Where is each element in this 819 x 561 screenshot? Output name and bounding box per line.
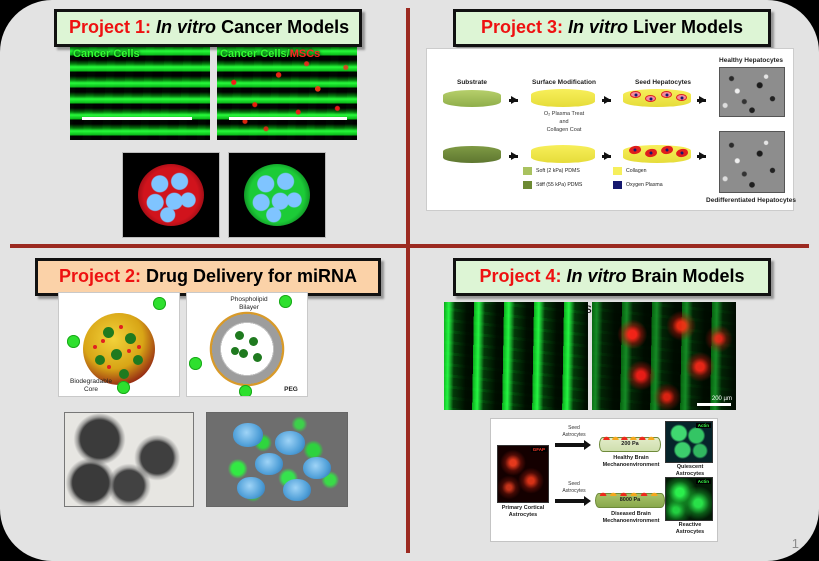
scale-bar (229, 117, 347, 120)
project-2-image-row (64, 412, 348, 507)
legend-label-soft-pdms: Soft (2 kPa) PDMS (536, 168, 580, 174)
project-4-title-text: Brain Models (632, 266, 745, 286)
actin-tag: Actin (696, 479, 711, 484)
gel-8000pa: 8000 Pa (595, 493, 665, 508)
cargo-dot (111, 349, 122, 360)
arrow-seed-bottom (555, 499, 585, 503)
stiffness-label-bottom: 8000 Pa (596, 497, 664, 503)
seed-label-top: Seed Astrocytes (553, 425, 595, 438)
legend-swatch-oxygen-plasma (613, 181, 622, 189)
scale-bar (82, 117, 192, 120)
arrow-seed-top (555, 443, 585, 447)
red-membrane-spheroid-image (122, 152, 220, 238)
liposome-schematic: Phospholipid Bilayer PEG (186, 292, 308, 397)
page-number: 1 (792, 536, 799, 551)
seed-label-line-2: Astrocytes (562, 488, 585, 494)
env-label-top: Healthy Brain Mechanoenvironment (591, 455, 671, 469)
arrow-right (604, 152, 611, 160)
outcome-label-dedifferentiated: Dedifferentiated Hepatocytes (705, 197, 797, 205)
mirna-dot (101, 339, 105, 343)
result-label-bottom-line-1: Reactive (679, 522, 702, 528)
stiffness-label-top: 200 Pa (600, 441, 660, 447)
mirna-dot (119, 325, 123, 329)
peg-label: PEG (278, 386, 304, 394)
peg-moiety (239, 385, 252, 397)
project-4-title-italic: In vitro (566, 266, 626, 286)
result-label-bottom: Reactive Astrocytes (663, 522, 717, 536)
peg-moiety (153, 297, 166, 310)
collagen-disk-soft (531, 89, 595, 107)
cell-nucleus (237, 477, 265, 499)
healthy-hepatocytes-image (719, 67, 785, 117)
vertical-divider (406, 8, 410, 553)
project-3-title-text: Liver Models (633, 17, 743, 37)
project-2-title-text: Drug Delivery for miRNA (146, 266, 357, 286)
project-1-spheroid-row (122, 152, 326, 238)
treatment-note-line-3: Collagen Coat (523, 127, 605, 134)
treatment-note-line-1: O₂ Plasma Treat (523, 111, 605, 118)
arrow-right (699, 152, 706, 160)
cargo-dot (253, 353, 262, 362)
seed-label-bottom: Seed Astrocytes (553, 481, 595, 494)
cell-nucleus (275, 431, 305, 455)
astrocyte-bumps (602, 434, 658, 440)
legend-swatch-soft-pdms (523, 167, 532, 175)
cell-nucleus (283, 479, 311, 501)
source-label-line-2: Astrocytes (509, 512, 537, 518)
neurons-green-micrograph (444, 302, 588, 410)
cancer-cells-label: Cancer Cells (73, 48, 140, 60)
project-3-number: Project 3: (481, 17, 563, 37)
hepatocyte-healthy (661, 91, 672, 98)
hepatocyte-healthy (630, 91, 641, 98)
legend-label-collagen: Collagen (626, 168, 646, 174)
dedifferentiated-hepatocytes-image (719, 131, 785, 193)
bilayer-label-line-2: Bilayer (239, 304, 259, 311)
cancer-cells-sublabel: Cancer Cells (220, 48, 287, 60)
legend-swatch-collagen (613, 167, 622, 175)
mirna-dot (127, 349, 131, 353)
result-label-top-line-1: Quiescent (677, 464, 704, 470)
treatment-note-line-2: and (523, 119, 605, 126)
gfap-tag: GFAP (531, 447, 547, 452)
project-2-schematic-row: Biodegradable Core Phospholipid Bilayer … (58, 292, 308, 397)
astrocyte-texture (592, 302, 736, 410)
project-1-micrograph-row: Cancer Cells Cancer Cells/MSCs (70, 47, 357, 140)
peg-moiety (189, 357, 202, 370)
source-label: Primary Cortical Astrocytes (491, 505, 555, 519)
reactive-astrocytes-image: Actin (665, 477, 713, 521)
mirna-dot (137, 345, 141, 349)
env-label-top-line-2: Mechanoenvironment (603, 462, 660, 468)
project-4-title: Project 4: In vitro Brain Models (453, 258, 771, 296)
arrow-right (511, 96, 518, 104)
cancer-cells-mscs-micrograph: Cancer Cells/MSCs (217, 47, 357, 140)
bilayer-label-line-1: Phospholipid (230, 296, 267, 303)
liver-workflow-diagram: Substrate Surface Modification Seed Hepa… (426, 48, 794, 211)
mirna-dot (107, 365, 111, 369)
outcome-label-healthy: Healthy Hepatocytes (713, 57, 789, 65)
phospholipid-bilayer-ring (207, 309, 287, 389)
green-fiber-texture (70, 47, 210, 140)
result-label-bottom-line-2: Astrocytes (676, 529, 704, 535)
project-3-title-italic: In vitro (568, 17, 628, 37)
neurons-astrocytes-micrograph: 200 µm (592, 302, 736, 410)
source-label-line-1: Primary Cortical (502, 505, 545, 511)
legend-label-oxygen-plasma: Oxygen Plasma (626, 182, 663, 188)
step-label-seed-hepatocytes: Seed Hepatocytes (623, 79, 703, 87)
neuron-network-texture (444, 302, 588, 410)
core-label-line-1: Biodegradable (70, 378, 112, 385)
quiescent-astrocytes-image: Actin (665, 421, 713, 463)
seed-label-line-1: Seed (568, 481, 580, 487)
horizontal-divider (10, 244, 809, 248)
cargo-dot (239, 349, 248, 358)
astrocyte-bumps (598, 490, 662, 496)
mscs-sublabel: MSCs (290, 48, 321, 60)
project-4-micrograph-row: 200 µm (444, 302, 736, 410)
env-label-top-line-1: Healthy Brain (613, 455, 648, 461)
mirna-dot (93, 345, 97, 349)
cargo-dot (103, 327, 114, 338)
project-2-title: Project 2: Drug Delivery for miRNA (35, 258, 381, 296)
core-label-line-2: Core (84, 386, 98, 393)
seed-label-line-2: Astrocytes (562, 432, 585, 438)
project-1-title-italic: In vitro (156, 17, 216, 37)
quadrant-project-4: Project 4: In vitro Brain Models Neurons… (412, 250, 812, 550)
hepatocyte-healthy (645, 95, 656, 102)
project-2-number: Project 2: (59, 266, 141, 286)
phospholipid-bilayer-label: Phospholipid Bilayer (217, 296, 281, 312)
env-label-bottom-line-1: Diseased Brain (611, 511, 651, 517)
cell-nucleus (255, 453, 283, 475)
cargo-dot (249, 337, 258, 346)
substrate-disk-soft (443, 90, 501, 107)
collagen-disk-stiff (531, 145, 595, 163)
brightfield-spheroids-image (64, 412, 194, 507)
biodegradable-core-label: Biodegradable Core (60, 378, 122, 394)
arrow-right (604, 96, 611, 104)
peg-moiety (67, 335, 80, 348)
arrow-right (511, 152, 518, 160)
substrate-disk-stiff (443, 146, 501, 163)
green-membrane-spheroid-image (228, 152, 326, 238)
quadrant-project-1: Project 1: In vitro Cancer Models Cancer… (12, 4, 404, 242)
step-label-substrate: Substrate (441, 79, 503, 87)
spheroid-shape (138, 164, 204, 226)
quadrant-project-3: Project 3: In vitro Liver Models Substra… (412, 4, 812, 242)
scale-bar-label: 200 µm (712, 396, 732, 402)
actin-tag: Actin (696, 423, 711, 428)
primary-cortical-astrocytes-image: GFAP (497, 445, 549, 503)
cargo-dot (95, 355, 105, 365)
cancer-cells-micrograph: Cancer Cells (70, 47, 210, 140)
scale-bar (697, 403, 731, 406)
cargo-dot (231, 347, 239, 355)
cell-nucleus (303, 457, 331, 479)
project-1-title-text: Cancer Models (221, 17, 349, 37)
cell-nucleus (233, 423, 263, 447)
hepatocyte-healthy (676, 94, 687, 101)
project-1-title: Project 1: In vitro Cancer Models (54, 9, 362, 47)
cargo-dot (235, 331, 244, 340)
env-label-bottom-line-2: Mechanoenvironment (603, 518, 660, 524)
cargo-dot (125, 333, 136, 344)
env-label-bottom: Diseased Brain Mechanoenvironment (589, 511, 673, 525)
step-label-surface-modification: Surface Modification (519, 79, 609, 87)
legend-label-stiff-pdms: Stiff (55 kPa) PDMS (536, 182, 582, 188)
astrocyte-mechanoenvironment-diagram: GFAP Primary Cortical Astrocytes Seed As… (490, 418, 718, 542)
slide-canvas: Project 1: In vitro Cancer Models Cancer… (0, 0, 819, 561)
spheroid-shape (244, 164, 310, 226)
arrow-right (699, 96, 706, 104)
project-4-number: Project 4: (479, 266, 561, 286)
gel-200pa: 200 Pa (599, 437, 661, 452)
legend-swatch-stiff-pdms (523, 181, 532, 189)
seed-label-line-1: Seed (568, 425, 580, 431)
biodegradable-nanoparticle-schematic: Biodegradable Core (58, 292, 180, 397)
cargo-dot (133, 355, 143, 365)
cancer-cells-mscs-label: Cancer Cells/MSCs (220, 48, 320, 60)
fluorescent-uptake-image (206, 412, 348, 507)
red-msc-texture (217, 47, 357, 140)
project-3-title: Project 3: In vitro Liver Models (453, 9, 771, 47)
project-1-number: Project 1: (69, 17, 151, 37)
